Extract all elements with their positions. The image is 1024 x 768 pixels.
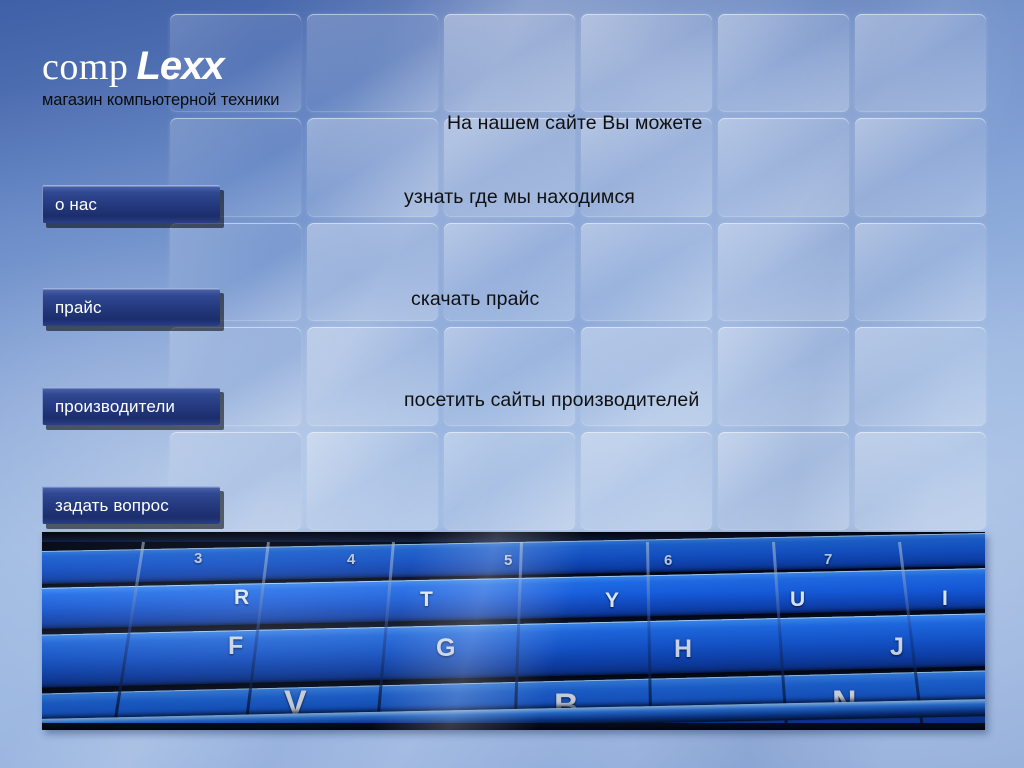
- keyboard-key-T: T: [420, 588, 433, 612]
- glass-tile: [718, 327, 849, 425]
- keyboard-render: 3 4 5 6 7 R T Y U I F G H J V B N: [42, 532, 985, 730]
- keyboard-bottom-bezel: [42, 723, 985, 730]
- glass-tile: [581, 432, 712, 530]
- logo-word-lexx: Lexx: [136, 44, 223, 88]
- nav-button-label: о нас: [55, 195, 97, 215]
- keyboard-key-F: F: [228, 632, 243, 661]
- logo-word-comp: comp: [42, 46, 128, 88]
- keyboard-hero-image: 3 4 5 6 7 R T Y U I F G H J V B N: [42, 532, 985, 730]
- glass-tile: [855, 432, 986, 530]
- keyboard-key-5: 5: [504, 552, 512, 569]
- glass-tile: [444, 14, 575, 112]
- nav-button-label: производители: [55, 397, 175, 417]
- glass-tile: [307, 432, 438, 530]
- nav-button-label: задать вопрос: [55, 496, 169, 516]
- keyboard-key-G: G: [436, 634, 455, 663]
- main-heading: На нашем сайте Вы можете: [447, 112, 702, 135]
- glass-tile: [718, 432, 849, 530]
- nav-button-about[interactable]: о нас: [42, 185, 220, 223]
- glass-tile: [581, 223, 712, 321]
- content-line-price: скачать прайс: [411, 288, 539, 311]
- keyboard-key-4: 4: [347, 551, 355, 568]
- nav-button-ask-question[interactable]: задать вопрос: [42, 486, 220, 524]
- nav-button-manufacturers[interactable]: производители: [42, 387, 220, 425]
- keyboard-key-Y: Y: [605, 589, 619, 613]
- glass-tile: [855, 14, 986, 112]
- glass-tile: [855, 118, 986, 216]
- glass-tile: [307, 14, 438, 112]
- keyboard-key-H: H: [674, 635, 692, 664]
- glass-tile: [855, 327, 986, 425]
- keyboard-key-3: 3: [194, 550, 202, 567]
- page-canvas: compLexx магазин компьютерной техники о …: [0, 0, 1024, 768]
- keyboard-key-6: 6: [664, 552, 672, 569]
- site-logo[interactable]: compLexx магазин компьютерной техники: [42, 46, 314, 110]
- keyboard-key-J: J: [890, 633, 904, 662]
- glass-tile: [718, 118, 849, 216]
- glass-tile: [718, 14, 849, 112]
- keyboard-key-I: I: [942, 587, 948, 611]
- glass-tile: [444, 432, 575, 530]
- nav-button-price[interactable]: прайс: [42, 288, 220, 326]
- glass-tile: [718, 223, 849, 321]
- content-line-location: узнать где мы находимся: [404, 186, 635, 209]
- nav-button-label: прайс: [55, 298, 102, 318]
- keyboard-key-R: R: [234, 586, 249, 610]
- logo-wordmark: compLexx: [42, 46, 314, 86]
- content-line-manufacturers: посетить сайты производителей: [404, 389, 699, 412]
- keyboard-key-7: 7: [824, 551, 832, 568]
- keyboard-key-U: U: [790, 588, 805, 612]
- glass-tile: [855, 223, 986, 321]
- logo-tagline: магазин компьютерной техники: [42, 91, 314, 110]
- glass-tile: [581, 14, 712, 112]
